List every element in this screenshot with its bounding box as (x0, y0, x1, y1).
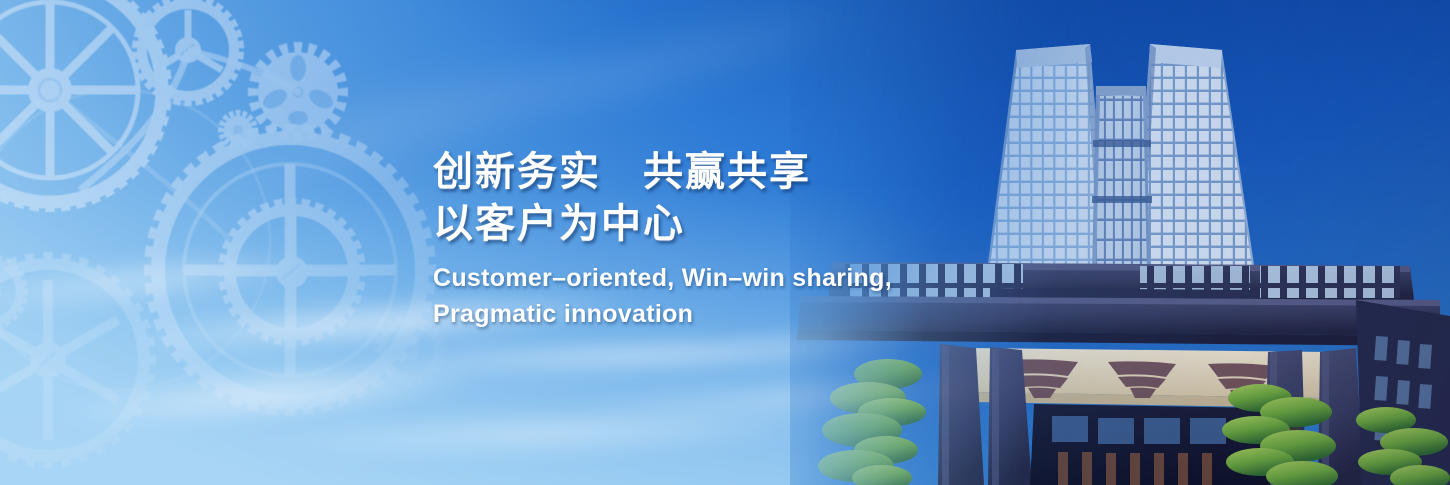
subtitle-line-1: Customer–oriented, Win–win sharing, (433, 260, 1073, 296)
headline-line-1: 创新务实 共赢共享 (433, 146, 1073, 198)
banner-copy: 创新务实 共赢共享 以客户为中心 Customer–oriented, Win–… (433, 146, 1073, 332)
headline-line-2: 以客户为中心 (433, 198, 1073, 250)
hero-banner: 创新务实 共赢共享 以客户为中心 Customer–oriented, Win–… (0, 0, 1450, 485)
subtitle: Customer–oriented, Win–win sharing, Prag… (433, 260, 1073, 332)
subtitle-line-2: Pragmatic innovation (433, 296, 1073, 332)
gears-decoration-icon (0, 0, 490, 485)
